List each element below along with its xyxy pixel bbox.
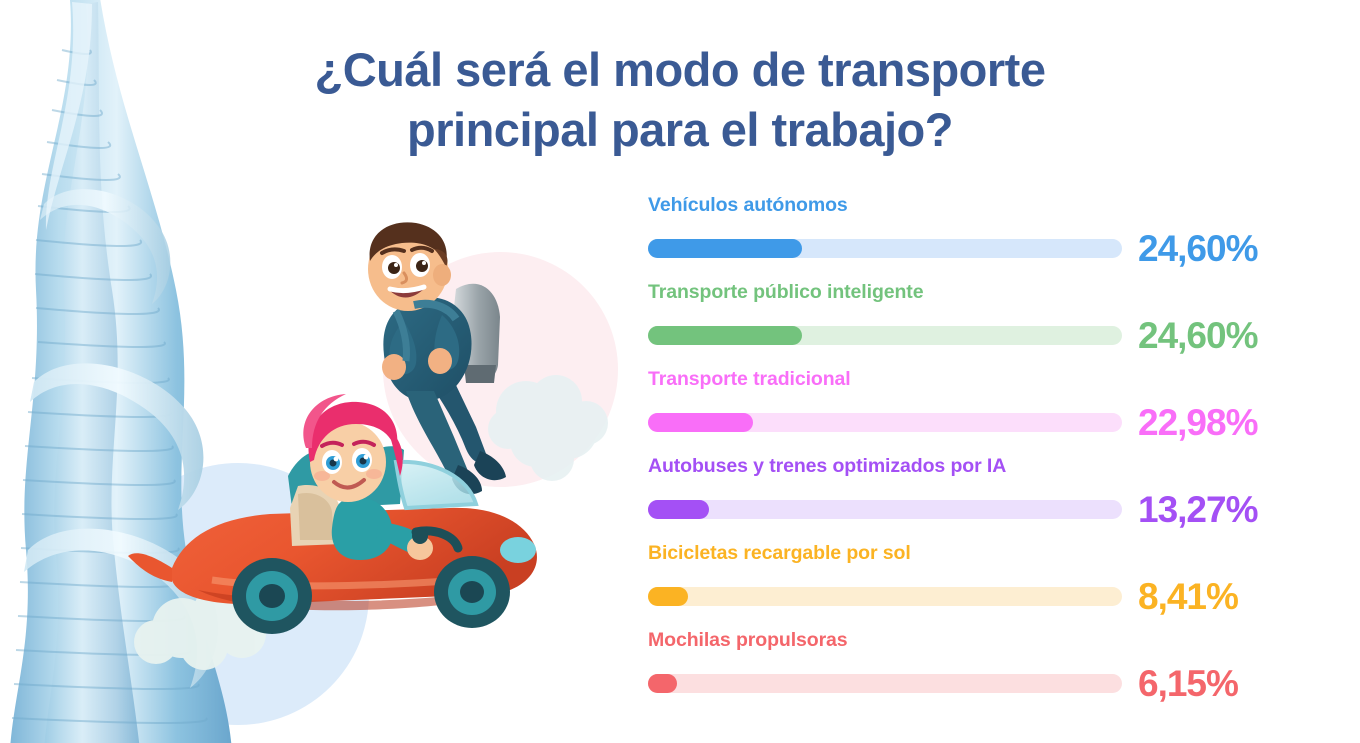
bar-track	[648, 587, 1122, 606]
bar-line: 13,27%	[648, 491, 1308, 528]
bar-track	[648, 239, 1122, 258]
bar-track	[648, 674, 1122, 693]
bar-line: 8,41%	[648, 578, 1308, 615]
bar-value: 13,27%	[1138, 491, 1258, 528]
bar-label: Mochilas propulsoras	[648, 631, 1308, 651]
bar-value: 8,41%	[1138, 578, 1238, 615]
bar-track	[648, 326, 1122, 345]
bar-value: 22,98%	[1138, 404, 1258, 441]
blue-circle-backdrop	[107, 463, 369, 725]
chart-row: Vehículos autónomos 24,60%	[648, 196, 1308, 283]
chart-row: Transporte público inteligente 24,60%	[648, 283, 1308, 370]
infographic-poster: ¿Cuál será el modo de transporte princip…	[0, 0, 1360, 743]
chart-row: Bicicletas recargable por sol 8,41%	[648, 544, 1308, 631]
bar-label: Transporte tradicional	[648, 370, 1308, 390]
bar-fill	[648, 587, 688, 606]
bar-line: 24,60%	[648, 317, 1308, 354]
bar-value: 24,60%	[1138, 317, 1258, 354]
bar-line: 6,15%	[648, 665, 1308, 702]
bar-label: Bicicletas recargable por sol	[648, 544, 1308, 564]
bar-track	[648, 413, 1122, 432]
bar-value: 24,60%	[1138, 230, 1258, 267]
bar-value: 6,15%	[1138, 665, 1238, 702]
chart-row: Autobuses y trenes optimizados por IA 13…	[648, 457, 1308, 544]
page-title-line-1: ¿Cuál será el modo de transporte	[185, 40, 1175, 100]
flying-car-girl-illustration	[120, 390, 570, 720]
bar-fill	[648, 239, 802, 258]
bar-label: Transporte público inteligente	[648, 283, 1308, 303]
page-title-line-2: principal para el trabajo?	[185, 100, 1175, 160]
chart-row: Transporte tradicional 22,98%	[648, 370, 1308, 457]
bar-fill	[648, 413, 753, 432]
pink-circle-backdrop	[383, 252, 618, 487]
bar-fill	[648, 674, 677, 693]
chart-row: Mochilas propulsoras 6,15%	[648, 631, 1308, 711]
jetpack-man-illustration	[330, 215, 630, 505]
bar-fill	[648, 500, 709, 519]
bar-label: Vehículos autónomos	[648, 196, 1308, 216]
bar-line: 22,98%	[648, 404, 1308, 441]
bar-line: 24,60%	[648, 230, 1308, 267]
bar-track	[648, 500, 1122, 519]
bar-label: Autobuses y trenes optimizados por IA	[648, 457, 1308, 477]
bar-fill	[648, 326, 802, 345]
page-title: ¿Cuál será el modo de transporte princip…	[185, 40, 1175, 160]
bar-chart: Vehículos autónomos 24,60% Transporte pú…	[648, 196, 1308, 711]
